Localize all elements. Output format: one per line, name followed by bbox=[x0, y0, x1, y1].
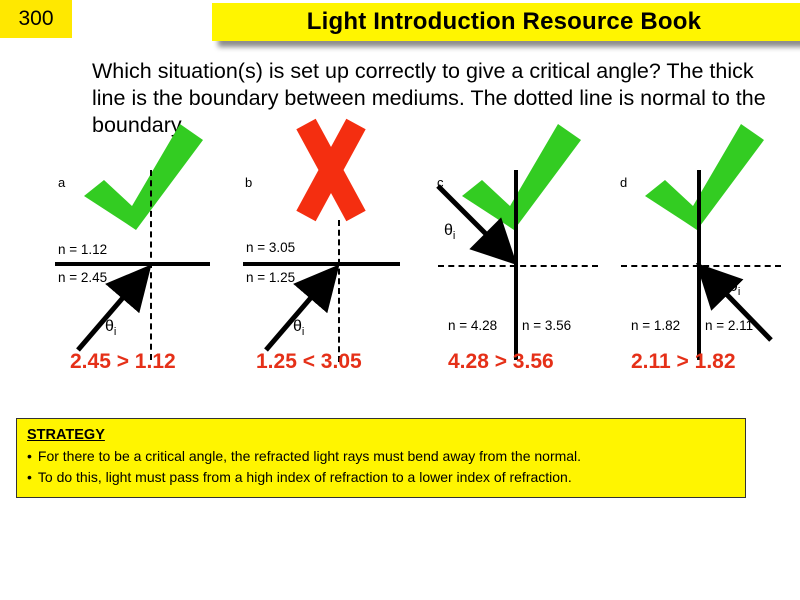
theta-symbol-c: θ bbox=[444, 222, 453, 239]
answer-b: 1.25 < 3.05 bbox=[256, 350, 362, 374]
incident-ray-b bbox=[258, 260, 353, 355]
index-label-d-right: n = 2.11 bbox=[705, 318, 753, 333]
strategy-box: STRATEGY • For there to be a critical an… bbox=[16, 418, 746, 498]
diagram-d: d θi n = 1.82 n = 2.11 2.11 > 1.82 bbox=[613, 120, 798, 385]
strategy-bullet-2: • To do this, light must pass from a hig… bbox=[27, 468, 735, 487]
check-icon bbox=[84, 124, 204, 234]
diagram-a-label: a bbox=[58, 175, 65, 190]
theta-symbol-a: θ bbox=[105, 318, 114, 335]
answer-d: 2.11 > 1.82 bbox=[631, 350, 736, 374]
theta-label-b: θi bbox=[293, 318, 304, 338]
answer-c: 4.28 > 3.56 bbox=[448, 350, 554, 374]
index-label-d-left: n = 1.82 bbox=[631, 318, 680, 333]
theta-label-d: θi bbox=[729, 278, 740, 298]
theta-symbol-b: θ bbox=[293, 318, 302, 335]
bullet-point-icon: • bbox=[27, 447, 32, 466]
theta-label-c: θi bbox=[444, 222, 455, 242]
cross-icon bbox=[290, 120, 380, 220]
theta-subscript-a: i bbox=[114, 326, 116, 338]
strategy-bullet-1-text: For there to be a critical angle, the re… bbox=[38, 447, 735, 466]
check-icon bbox=[645, 124, 765, 234]
diagram-a: a n = 1.12 n = 2.45 θi 2.45 > 1.12 bbox=[50, 120, 235, 385]
incident-ray-d bbox=[693, 262, 793, 354]
theta-subscript-b: i bbox=[302, 326, 304, 338]
diagram-b-label: b bbox=[245, 175, 252, 190]
diagram-c: c θi n = 4.28 n = 3.56 4.28 > 3.56 bbox=[430, 120, 615, 385]
theta-symbol-d: θ bbox=[729, 278, 738, 295]
incident-ray-a bbox=[70, 260, 165, 355]
page-title: Light Introduction Resource Book bbox=[307, 8, 709, 36]
index-label-c-right: n = 3.56 bbox=[522, 318, 571, 333]
strategy-bullet-1: • For there to be a critical angle, the … bbox=[27, 447, 735, 466]
index-label-a-top: n = 1.12 bbox=[58, 242, 107, 257]
answer-a: 2.45 > 1.12 bbox=[70, 350, 176, 374]
theta-subscript-d: i bbox=[738, 286, 740, 298]
strategy-heading: STRATEGY bbox=[27, 427, 735, 443]
index-label-c-left: n = 4.28 bbox=[448, 318, 497, 333]
strategy-bullet-2-text: To do this, light must pass from a high … bbox=[38, 468, 735, 487]
theta-subscript-c: i bbox=[453, 230, 455, 242]
bullet-point-icon: • bbox=[27, 468, 32, 487]
score-badge: 300 bbox=[0, 0, 72, 38]
diagram-d-label: d bbox=[620, 175, 627, 190]
index-label-b-top: n = 3.05 bbox=[246, 240, 295, 255]
theta-label-a: θi bbox=[105, 318, 116, 338]
title-banner: Light Introduction Resource Book bbox=[212, 3, 800, 41]
score-badge-value: 300 bbox=[18, 7, 53, 31]
diagram-b: b n = 3.05 n = 1.25 θi 1.25 < 3.05 bbox=[238, 120, 423, 385]
